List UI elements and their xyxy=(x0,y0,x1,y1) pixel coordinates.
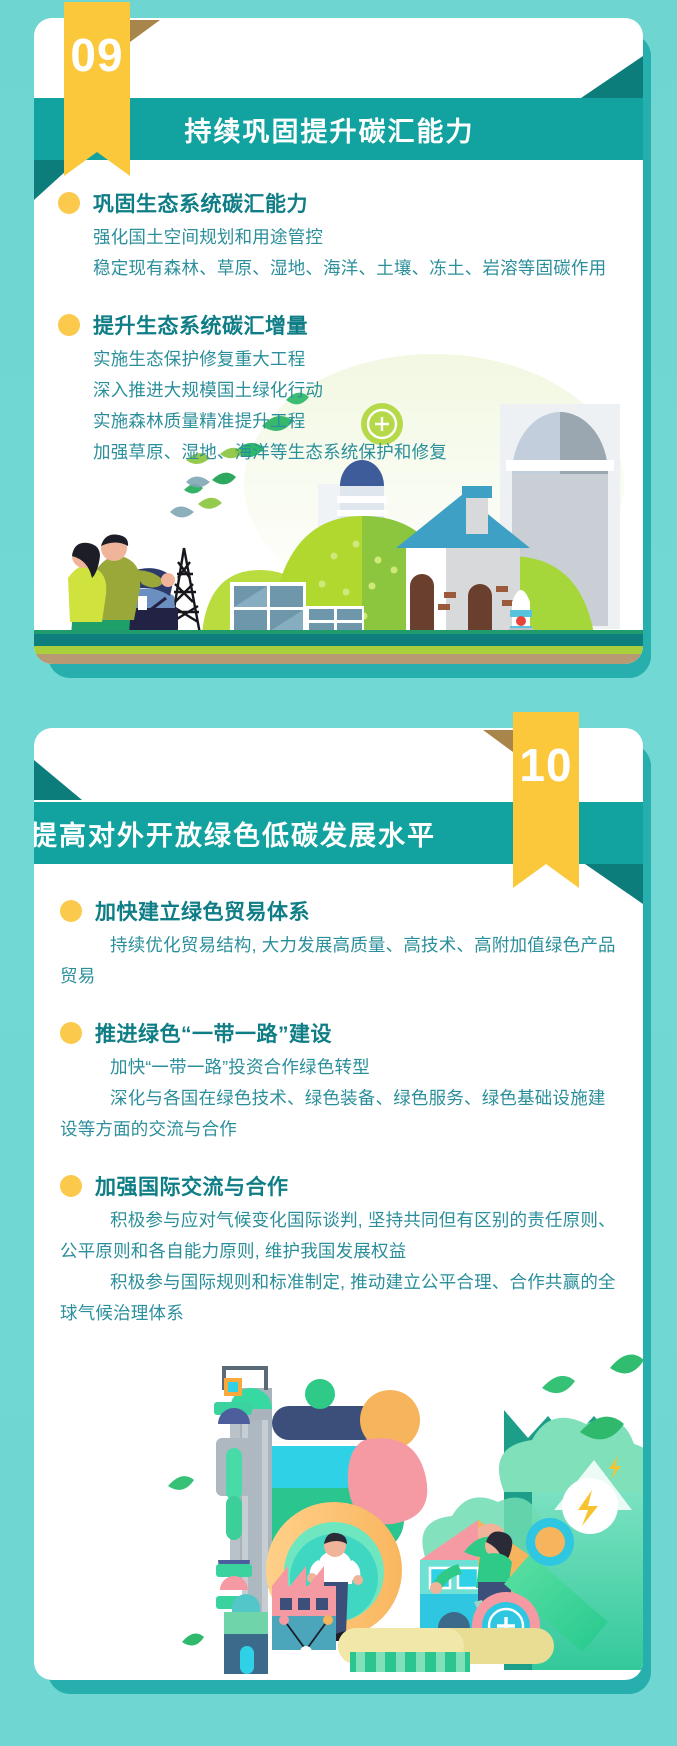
card-10-fold-right xyxy=(585,864,643,904)
bullet-line: 积极参与国际规则和标准制定, 推动建立公平合理、合作共赢的全球气候治理体系 xyxy=(60,1267,617,1329)
bullet-line: 强化国土空间规划和用途管控 xyxy=(93,222,615,253)
card-10-bullet-3: 加强国际交流与合作 积极参与应对气候变化国际谈判, 坚持共同但有区别的责任原则、… xyxy=(60,1171,617,1329)
card-09-number: 09 xyxy=(70,29,123,81)
card-09-ribbon: 09 xyxy=(64,2,130,152)
bullet-line: 加快“一带一路”投资合作绿色转型 xyxy=(60,1052,617,1083)
card-10-ribbon-tail xyxy=(483,730,513,752)
bullet-line: 深入推进大规模国土绿化行动 xyxy=(93,375,615,406)
bullet-head: 推进绿色“一带一路”建设 xyxy=(60,1018,617,1048)
bullet-title: 加快建立绿色贸易体系 xyxy=(95,896,310,926)
bullet-line: 稳定现有森林、草原、湿地、海洋、土壤、冻土、岩溶等固碳作用 xyxy=(93,253,615,284)
bullet-line: 深化与各国在绿色技术、绿色装备、绿色服务、绿色基础设施建设等方面的交流与合作 xyxy=(60,1083,617,1145)
bullet-dot-icon xyxy=(60,1175,82,1197)
card-09-bullet-1: 巩固生态系统碳汇能力 强化国土空间规划和用途管控 稳定现有森林、草原、湿地、海洋… xyxy=(58,188,615,284)
card-10: 提高对外开放绿色低碳发展水平 加快建立绿色贸易体系 持续优化贸易结构, 大力发展… xyxy=(34,728,643,1680)
ribbon-notch xyxy=(513,864,579,888)
bullet-dot-icon xyxy=(58,314,80,336)
bullet-title: 加强国际交流与合作 xyxy=(95,1171,289,1201)
bullet-line: 积极参与应对气候变化国际谈判, 坚持共同但有区别的责任原则、公平原则和各自能力原… xyxy=(60,1205,617,1267)
bullet-head: 提升生态系统碳汇增量 xyxy=(58,310,615,340)
card-09-ribbon-tail xyxy=(130,20,160,42)
bullet-line: 持续优化贸易结构, 大力发展高质量、高技术、高附加值绿色产品贸易 xyxy=(60,930,617,992)
card-09-bullet-2: 提升生态系统碳汇增量 实施生态保护修复重大工程 深入推进大规模国土绿化行动 实施… xyxy=(58,310,615,468)
bullet-dot-icon xyxy=(60,1022,82,1044)
bullet-line: 实施森林质量精准提升工程 xyxy=(93,406,615,437)
bullet-head: 巩固生态系统碳汇能力 xyxy=(58,188,615,218)
bullet-lines: 积极参与应对气候变化国际谈判, 坚持共同但有区别的责任原则、公平原则和各自能力原… xyxy=(60,1201,617,1329)
ribbon-notch xyxy=(64,152,130,176)
bullet-lines: 加快“一带一路”投资合作绿色转型 深化与各国在绿色技术、绿色装备、绿色服务、绿色… xyxy=(60,1048,617,1145)
bullet-lines: 强化国土空间规划和用途管控 稳定现有森林、草原、湿地、海洋、土壤、冻土、岩溶等固… xyxy=(58,218,615,284)
card-10-bullet-2: 推进绿色“一带一路”建设 加快“一带一路”投资合作绿色转型 深化与各国在绿色技术… xyxy=(60,1018,617,1145)
bullet-lines: 实施生态保护修复重大工程 深入推进大规模国土绿化行动 实施森林质量精准提升工程 … xyxy=(58,340,615,468)
bullet-lines: 持续优化贸易结构, 大力发展高质量、高技术、高附加值绿色产品贸易 xyxy=(60,926,617,992)
bullet-title: 巩固生态系统碳汇能力 xyxy=(93,188,308,218)
bullet-dot-icon xyxy=(60,900,82,922)
bullet-head: 加强国际交流与合作 xyxy=(60,1171,617,1201)
bullet-line: 实施生态保护修复重大工程 xyxy=(93,344,615,375)
card-10-ribbon: 10 xyxy=(513,712,579,864)
bullet-title: 提升生态系统碳汇增量 xyxy=(93,310,308,340)
card-10-fold-left xyxy=(34,760,82,800)
infographic-page: 持续巩固提升碳汇能力 巩固生态系统碳汇能力 强化国土空间规划和用途管控 稳定现有… xyxy=(0,0,677,1746)
bullet-line: 加强草原、湿地、海洋等生态系统保护和修复 xyxy=(93,437,615,468)
card-09-fold-right xyxy=(581,56,643,98)
card-09: 持续巩固提升碳汇能力 巩固生态系统碳汇能力 强化国土空间规划和用途管控 稳定现有… xyxy=(34,18,643,664)
card-10-bullet-1: 加快建立绿色贸易体系 持续优化贸易结构, 大力发展高质量、高技术、高附加值绿色产… xyxy=(60,896,617,992)
bullet-head: 加快建立绿色贸易体系 xyxy=(60,896,617,926)
card-10-number: 10 xyxy=(519,739,572,791)
bullet-title: 推进绿色“一带一路”建设 xyxy=(95,1018,332,1048)
